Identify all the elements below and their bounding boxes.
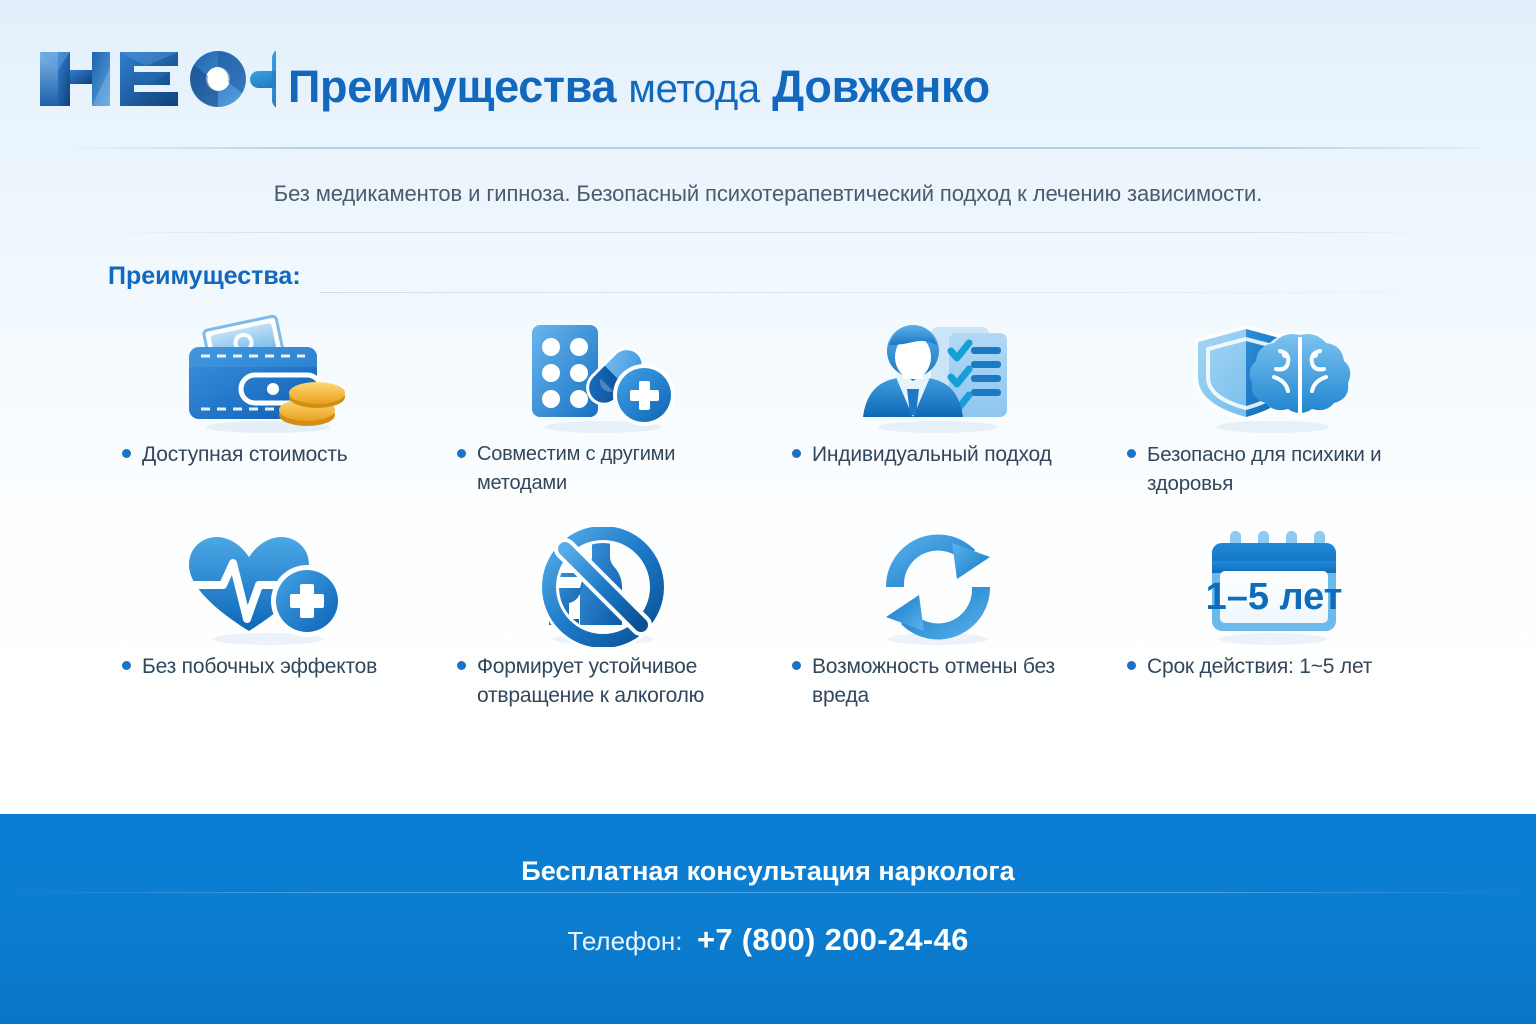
- phone-number[interactable]: +7 (800) 200-24-46: [697, 922, 969, 957]
- bullet-dot-icon: [1127, 449, 1136, 458]
- title-part-1: Преимущества: [288, 61, 616, 112]
- benefit-label-wrap-8: Срок действия: 1~5 лет: [1105, 652, 1440, 681]
- benefit-item-3[interactable]: Индивидуальный подход: [770, 310, 1105, 522]
- benefits-row-2: Без побочных эффектов: [100, 522, 1440, 734]
- wallet-coins-icon: [100, 310, 435, 440]
- footer-phone-row: Телефон: +7 (800) 200-24-46: [0, 922, 1536, 958]
- subtitle-divider: [100, 232, 1436, 233]
- benefit-item-8[interactable]: 1–5 лет Срок действия: 1~5 лет: [1105, 522, 1440, 734]
- shield-brain-icon: [1105, 310, 1440, 440]
- benefit-item-7[interactable]: Возможность отмены без вреда: [770, 522, 1105, 734]
- benefit-label-5: Без побочных эффектов: [142, 652, 377, 681]
- benefit-label-8: Срок действия: 1~5 лет: [1147, 652, 1372, 681]
- benefit-label-3: Индивидуальный подход: [812, 440, 1052, 469]
- benefit-label-1: Доступная стоимость: [142, 440, 348, 469]
- benefits-grid: Доступная стоимость: [100, 310, 1440, 734]
- footer-cta-band: Бесплатная консультация нарколога Телефо…: [0, 814, 1536, 1024]
- benefit-item-1[interactable]: Доступная стоимость: [100, 310, 435, 522]
- bullet-dot-icon: [122, 661, 131, 670]
- benefit-label-wrap-7: Возможность отмены без вреда: [770, 652, 1105, 710]
- footer-divider: [0, 892, 1536, 893]
- subtitle: Без медикаментов и гипноза. Безопасный п…: [0, 181, 1536, 207]
- title-part-3: Довженко: [772, 61, 990, 112]
- neo-plus-logo: [36, 48, 276, 110]
- benefit-label-wrap-6: Формирует устойчивое отвращение к алкого…: [435, 652, 770, 710]
- benefit-item-6[interactable]: Формирует устойчивое отвращение к алкого…: [435, 522, 770, 734]
- page-title: Преимущества метода Довженко: [288, 56, 990, 120]
- title-part-2: метода: [628, 67, 759, 111]
- bullet-dot-icon: [792, 661, 801, 670]
- benefit-item-5[interactable]: Без побочных эффектов: [100, 522, 435, 734]
- benefit-label-wrap-2: Совместим с другими методами: [435, 440, 770, 498]
- bullet-dot-icon: [1127, 661, 1136, 670]
- section-divider: [320, 292, 1436, 293]
- header-divider: [60, 147, 1480, 149]
- doctor-checklist-icon: [770, 310, 1105, 440]
- bullet-dot-icon: [122, 449, 131, 458]
- benefit-label-4: Безопасно для психики и здоровья: [1147, 440, 1430, 498]
- benefit-label-wrap-4: Безопасно для психики и здоровья: [1105, 440, 1440, 498]
- benefit-label-2: Совместим с другими методами: [477, 440, 760, 498]
- benefits-row-1: Доступная стоимость: [100, 310, 1440, 522]
- benefit-label-wrap-5: Без побочных эффектов: [100, 652, 435, 681]
- footer-title: Бесплатная консультация нарколога: [0, 856, 1536, 887]
- benefit-item-2[interactable]: Совместим с другими методами: [435, 310, 770, 522]
- no-alcohol-icon: [435, 522, 770, 652]
- benefit-item-4[interactable]: Безопасно для психики и здоровья: [1105, 310, 1440, 522]
- bullet-dot-icon: [792, 449, 801, 458]
- benefit-label-wrap-3: Индивидуальный подход: [770, 440, 1105, 469]
- benefit-label-6: Формирует устойчивое отвращение к алкого…: [477, 652, 760, 710]
- calendar-text: 1–5 лет: [1205, 576, 1342, 618]
- section-title: Преимущества:: [108, 262, 301, 291]
- heart-pulse-plus-icon: [100, 522, 435, 652]
- calendar-icon: 1–5 лет: [1105, 522, 1440, 652]
- bullet-dot-icon: [457, 661, 466, 670]
- infographic-poster: Преимущества метода Довженко Без медикам…: [0, 0, 1536, 1024]
- pills-plus-icon: [435, 310, 770, 440]
- benefit-label-7: Возможность отмены без вреда: [812, 652, 1095, 710]
- cycle-arrows-icon: [770, 522, 1105, 652]
- benefit-label-wrap-1: Доступная стоимость: [100, 440, 435, 469]
- bullet-dot-icon: [457, 449, 466, 458]
- phone-label: Телефон:: [567, 926, 682, 956]
- header: Преимущества метода Довженко: [0, 0, 1536, 150]
